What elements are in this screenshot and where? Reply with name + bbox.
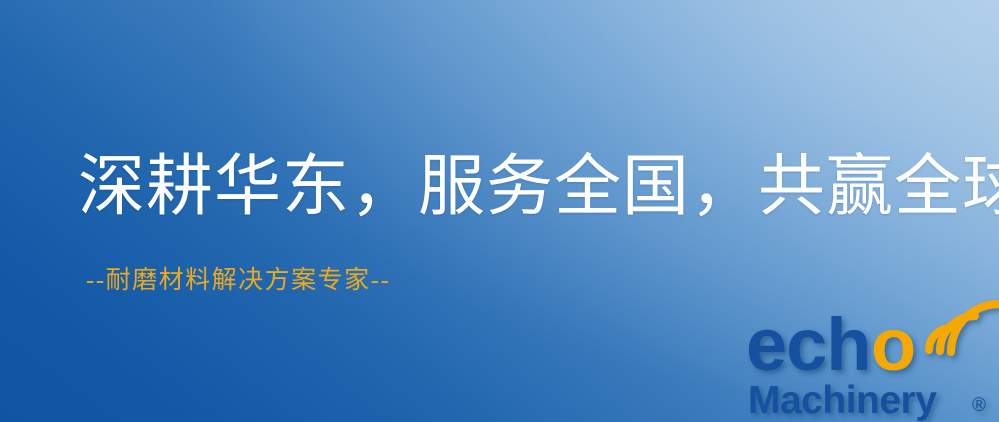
banner-headline: 深耕华东，服务全国，共赢全球 — [78, 150, 999, 225]
banner-content: 深耕华东，服务全国，共赢全球 --耐磨材料解决方案专家-- ech — [0, 0, 999, 422]
banner-subtitle: --耐磨材料解决方案专家-- — [86, 266, 390, 296]
registered-trademark-icon: ® — [972, 395, 986, 416]
logo-tagline: Machinery — [748, 379, 937, 422]
signal-waves-icon — [929, 304, 999, 352]
echo-machinery-logo[interactable]: ech o Machinery ® — [746, 298, 999, 422]
hero-banner: 深耕华东，服务全国，共赢全球 --耐磨材料解决方案专家-- ech — [0, 0, 999, 422]
logo-wordmark-accent: o — [871, 303, 916, 386]
logo-wordmark-dark: ech — [746, 303, 871, 386]
